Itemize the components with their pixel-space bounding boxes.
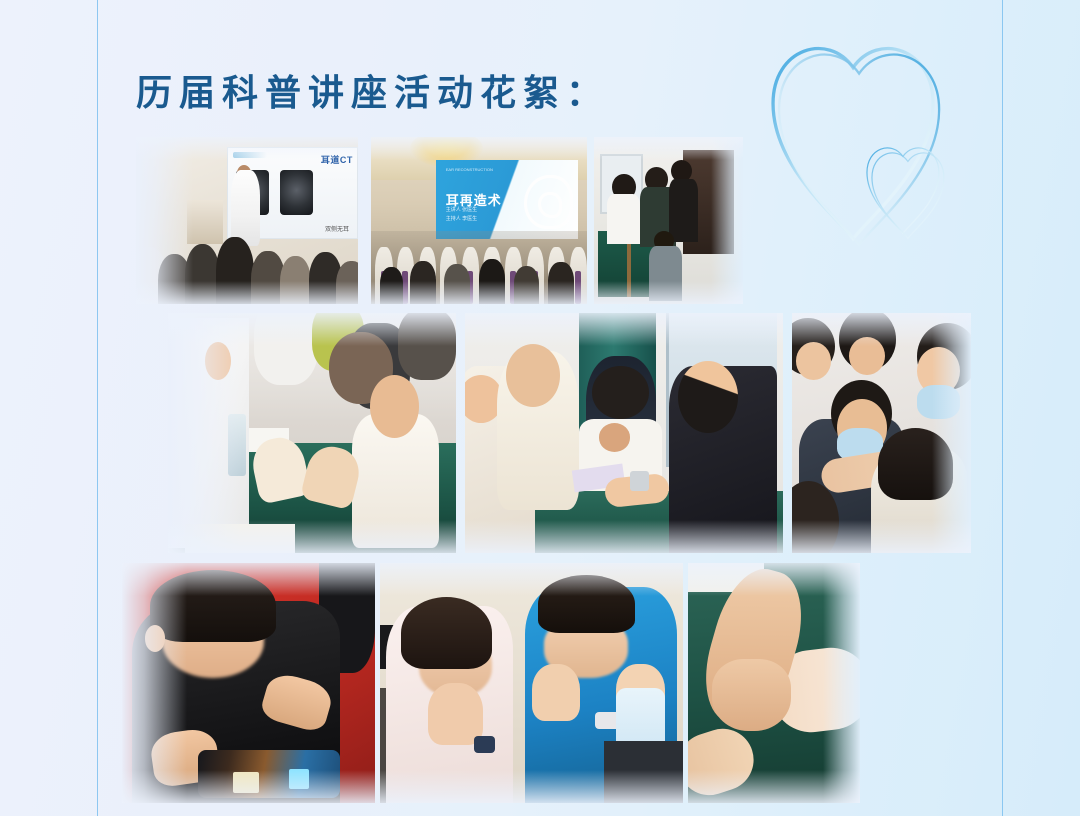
slide-title-ct: 耳道CT [321, 153, 353, 166]
slide-line-2: 主持人 李医生 [446, 215, 477, 224]
gallery-photo-hands[interactable] [688, 563, 860, 803]
gallery-photo-lecture-ct[interactable]: 耳道CT 双侧无耳 [136, 137, 358, 304]
gallery-photo-two-children[interactable] [380, 563, 683, 803]
gallery-photo-registration[interactable] [594, 137, 743, 304]
gallery-photo-auditorium[interactable]: EAR RECONSTRUCTION 耳再造术 主讲人 张医生 主持人 李医生 [371, 137, 587, 304]
gallery-photo-expert-exam[interactable] [792, 313, 971, 553]
gallery-photo-consultation[interactable] [465, 313, 783, 553]
left-vertical-rule [97, 0, 98, 816]
gallery-photo-high-five[interactable] [168, 313, 456, 553]
gallery-photo-boy-phone[interactable] [122, 563, 375, 803]
right-vertical-rule [1002, 0, 1003, 816]
slide-subtitle-ct: 双侧无耳 [325, 224, 349, 233]
slide-line-1: 主讲人 张医生 [446, 206, 477, 215]
page-title: 历届科普讲座活动花絮： [136, 64, 609, 116]
